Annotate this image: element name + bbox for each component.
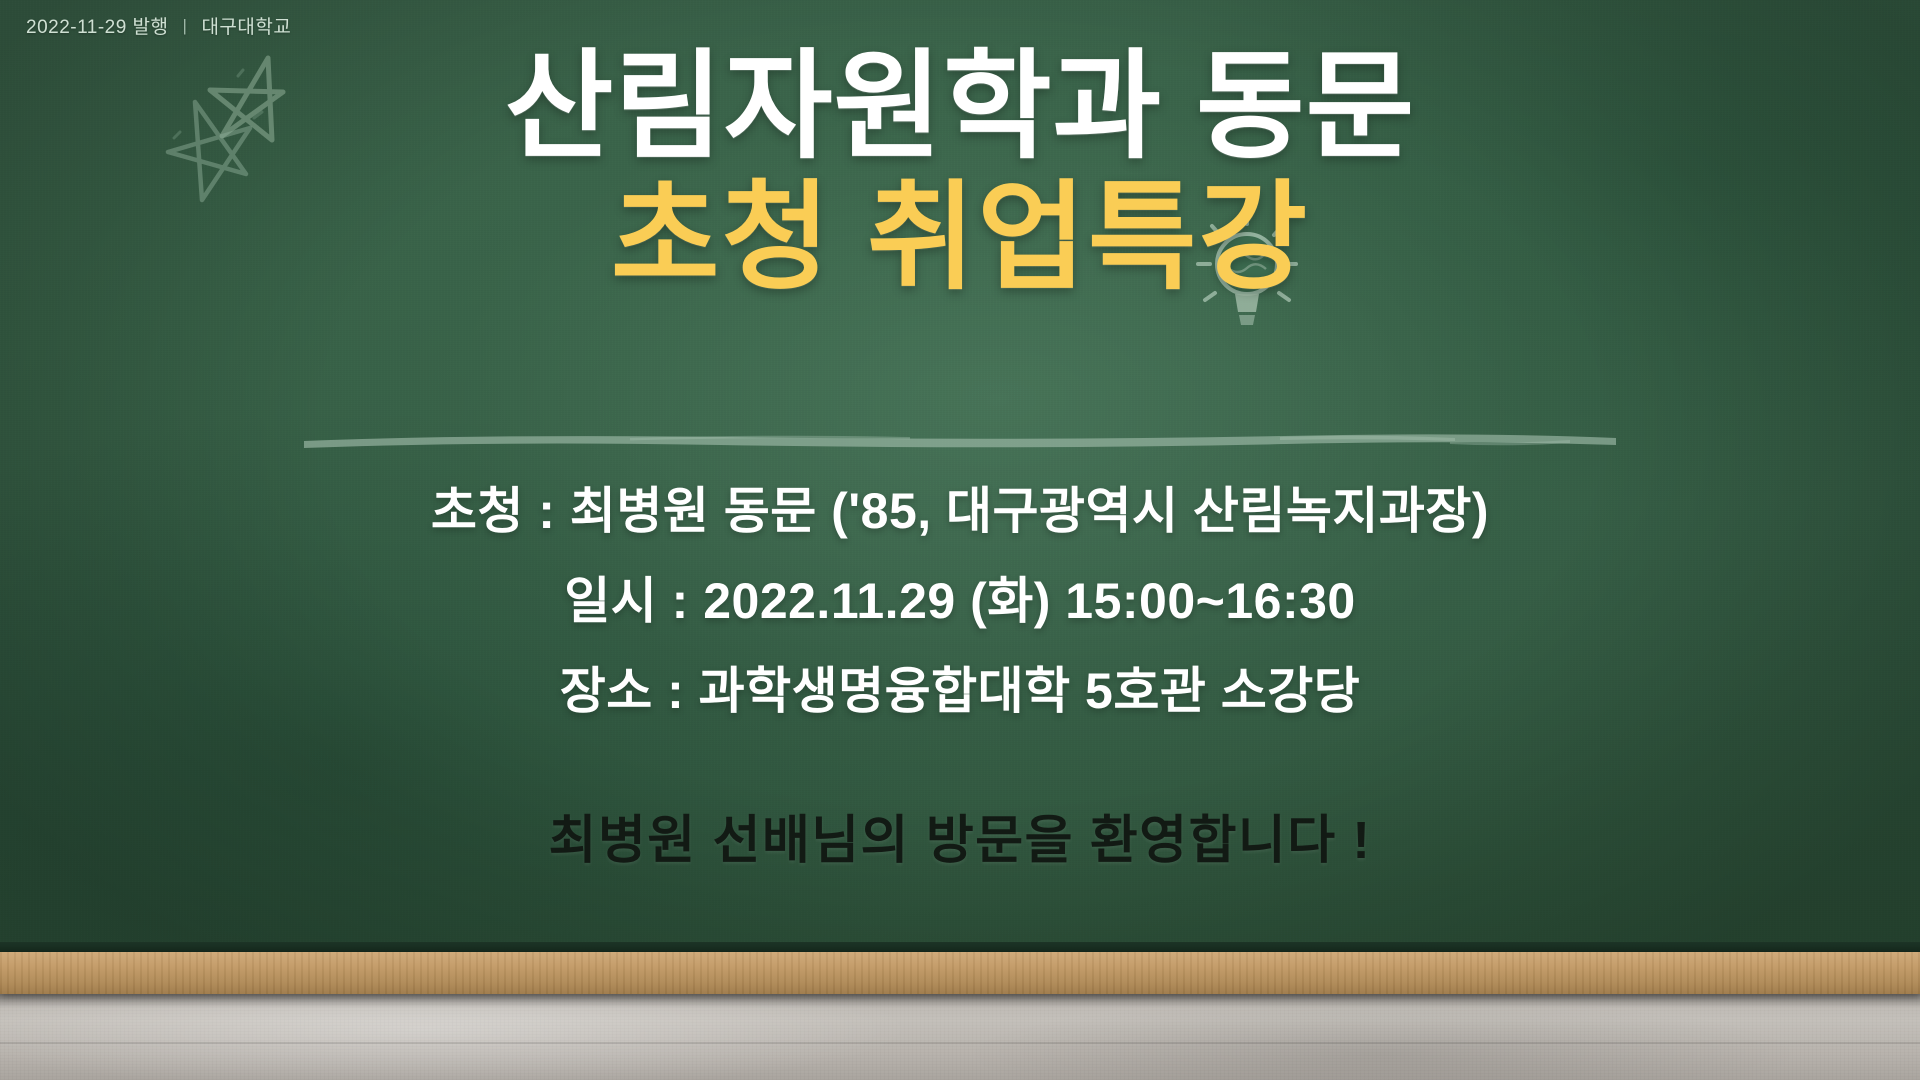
detail-datetime: 일시 : 2022.11.29 (화) 15:00~16:30 bbox=[0, 576, 1920, 626]
issue-date: 2022-11-29 발행 bbox=[26, 12, 169, 39]
title-line-2: 초청 취업특강 bbox=[0, 177, 1920, 300]
welcome-message: 최병원 선배님의 방문을 환영합니다 ! bbox=[0, 798, 1920, 873]
detail-location: 장소 : 과학생명융합대학 5호관 소강당 bbox=[0, 666, 1920, 716]
wooden-frame-ledge bbox=[0, 952, 1920, 994]
board-bottom-edge bbox=[0, 942, 1920, 952]
detail-invitee: 초청 : 최병원 동문 ('85, 대구광역시 산림녹지과장) bbox=[0, 486, 1920, 536]
header-separator: | bbox=[183, 16, 188, 36]
event-details: 초청 : 최병원 동문 ('85, 대구광역시 산림녹지과장) 일시 : 202… bbox=[0, 486, 1920, 716]
issue-header: 2022-11-29 발행 | 대구대학교 bbox=[26, 12, 291, 39]
poster-title-block: 산림자원학과 동문 초청 취업특강 bbox=[0, 46, 1920, 299]
event-poster: 2022-11-29 발행 | 대구대학교 bbox=[0, 0, 1920, 1080]
title-line-1: 산림자원학과 동문 bbox=[0, 46, 1920, 169]
wall-seam-line bbox=[0, 1042, 1920, 1044]
organization-name: 대구대학교 bbox=[201, 12, 291, 39]
frame-drop-shadow bbox=[0, 994, 1920, 1008]
